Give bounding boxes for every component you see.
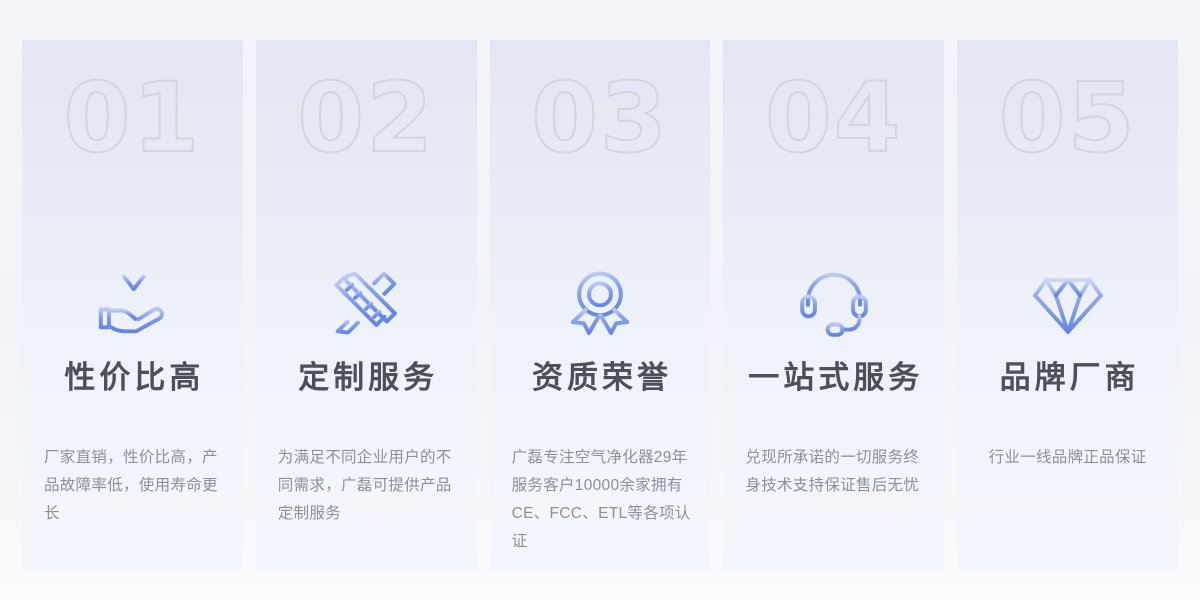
card-desc-01: 厂家直销，性价比高，产品故障率低，使用寿命更长	[44, 444, 225, 528]
card-desc-02: 为满足不同企业用户的不同需求，广磊可提供产品定制服务	[278, 444, 459, 528]
card-number-04: 04	[723, 70, 944, 166]
card-title-05: 品牌厂商	[957, 358, 1178, 398]
features-banner: 01	[0, 0, 1200, 600]
card-number-03: 03	[490, 70, 711, 166]
feature-card-03[interactable]: 03	[490, 40, 711, 570]
card-number-05: 05	[957, 70, 1178, 166]
feature-card-01[interactable]: 01	[22, 40, 243, 570]
feature-card-02[interactable]: 02	[256, 40, 477, 570]
diamond-icon	[957, 248, 1178, 358]
headset-icon	[723, 248, 944, 358]
card-number-02: 02	[256, 70, 477, 166]
award-medal-icon	[490, 248, 711, 358]
pencil-ruler-icon	[256, 248, 477, 358]
card-title-02: 定制服务	[256, 358, 477, 398]
card-title-04: 一站式服务	[723, 358, 944, 398]
card-number-01: 01	[22, 70, 243, 166]
card-desc-05: 行业一线品牌正品保证	[965, 444, 1170, 472]
feature-card-list: 01	[22, 40, 1178, 570]
card-title-03: 资质荣誉	[490, 358, 711, 398]
feature-card-05[interactable]: 05	[957, 40, 1178, 570]
card-desc-03: 广磊专注空气净化器29年服务客户10000余家拥有CE、FCC、ETL等各项认证	[512, 444, 693, 556]
card-desc-04: 兑现所承诺的一切服务终身技术支持保证售后无忧	[745, 444, 926, 500]
card-title-01: 性价比高	[22, 358, 243, 398]
hand-holding-yuan-icon	[22, 248, 243, 358]
feature-card-04[interactable]: 04	[723, 40, 944, 570]
